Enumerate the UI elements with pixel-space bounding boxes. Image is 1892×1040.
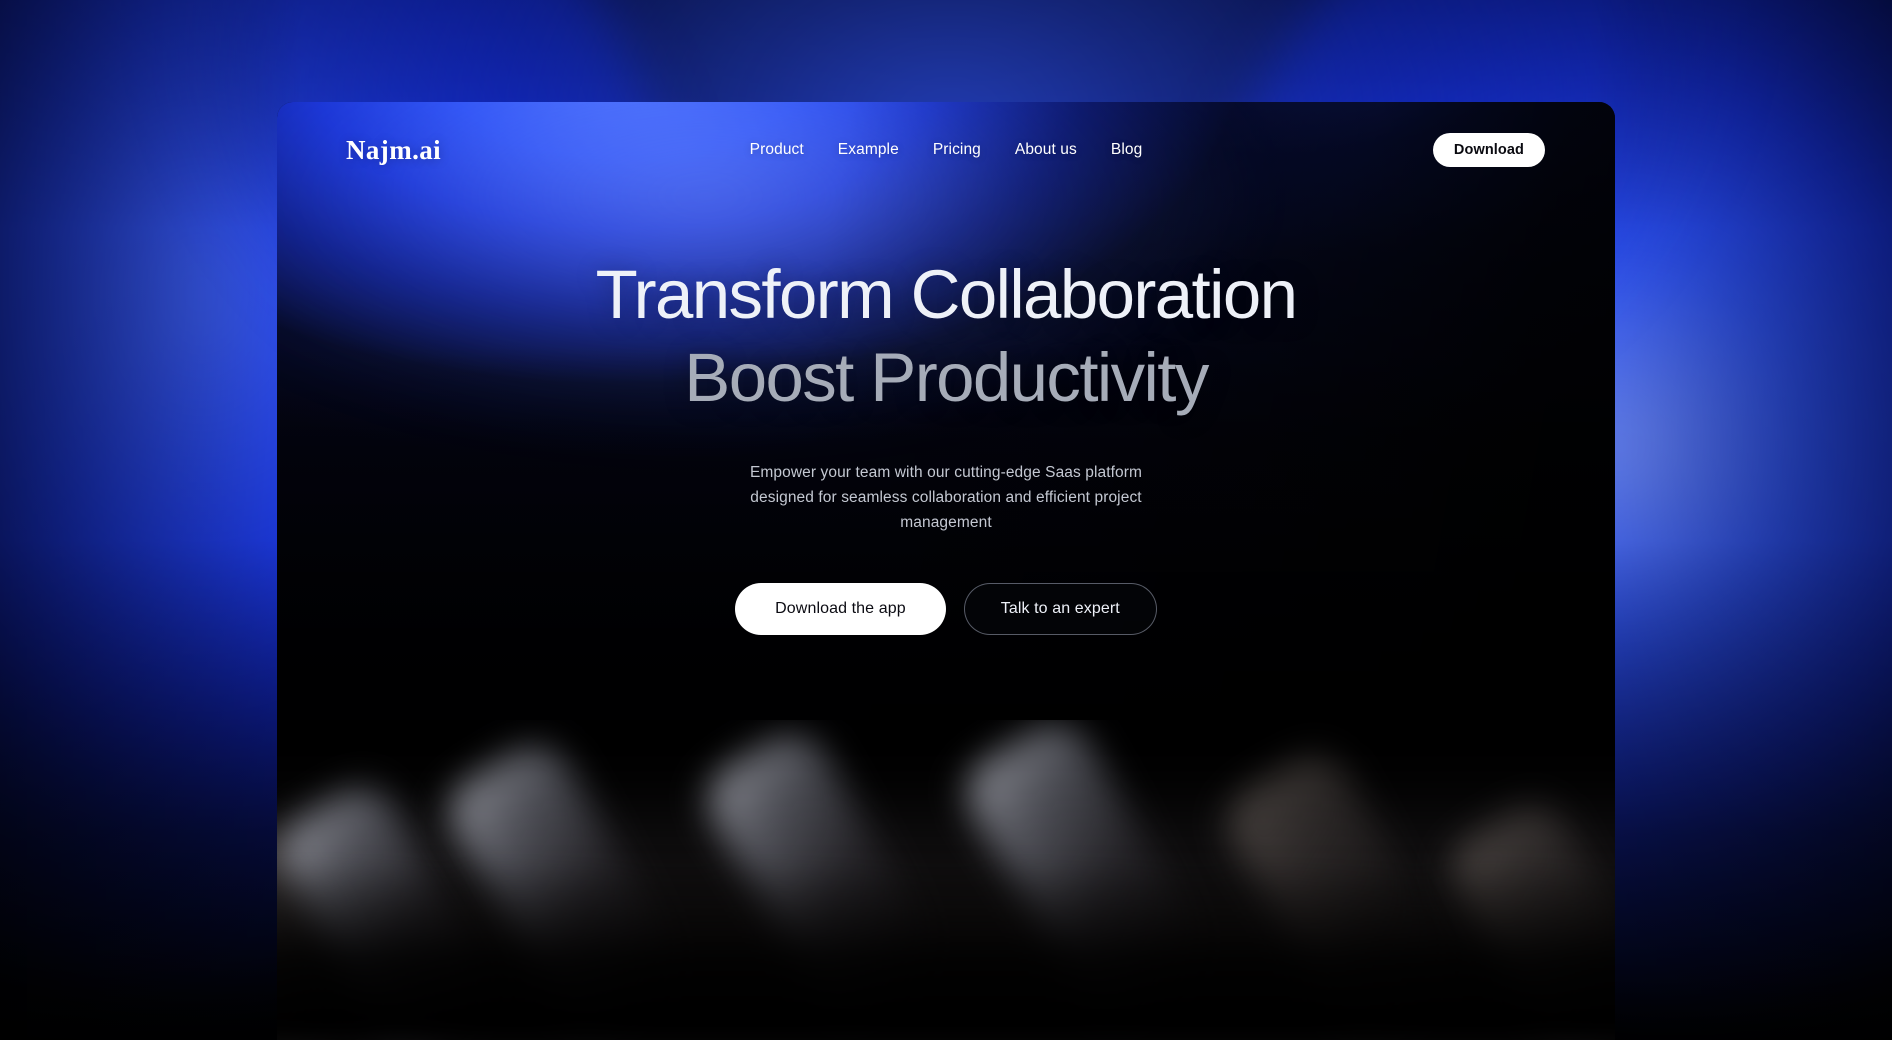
hero-cta-group: Download the app Talk to an expert (735, 583, 1157, 635)
talk-to-an-expert-button[interactable]: Talk to an expert (964, 583, 1157, 635)
navbar: Najm.ai Product Example Pricing About us… (277, 102, 1615, 198)
nav-item-pricing[interactable]: Pricing (933, 141, 981, 159)
hero-headline-line-2: Boost Productivity (684, 343, 1207, 412)
nav-item-example[interactable]: Example (838, 141, 899, 159)
hero-section: Transform Collaboration Boost Productivi… (277, 260, 1615, 635)
hero-subtitle: Empower your team with our cutting-edge … (736, 460, 1156, 535)
navbar-actions: Download (1433, 133, 1545, 167)
hero-headline-line-1: Transform Collaboration (596, 260, 1297, 329)
nav-item-about-us[interactable]: About us (1015, 141, 1077, 159)
download-button[interactable]: Download (1433, 133, 1545, 167)
nav-item-blog[interactable]: Blog (1111, 141, 1142, 159)
website-content: Najm.ai Product Example Pricing About us… (277, 102, 1615, 1040)
download-the-app-button[interactable]: Download the app (735, 583, 946, 635)
laptop-screen-panel: Najm.ai Product Example Pricing About us… (277, 102, 1615, 1040)
nav-item-product[interactable]: Product (750, 141, 804, 159)
brand-logo[interactable]: Najm.ai (346, 135, 441, 166)
nav-links: Product Example Pricing About us Blog (750, 141, 1143, 159)
